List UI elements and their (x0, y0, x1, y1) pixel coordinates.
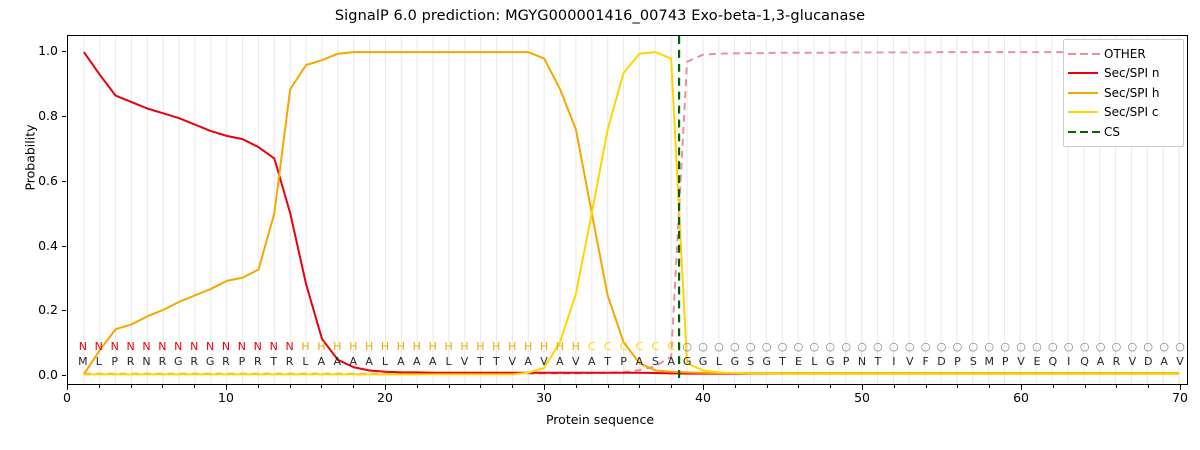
residue-state-19: H (361, 340, 377, 353)
residue-aa-56: P (949, 355, 965, 368)
x-tick-minor (639, 385, 640, 388)
residue-state-26: H (472, 340, 488, 353)
residue-aa-17: A (329, 355, 345, 368)
residue-state-62: ○ (1045, 340, 1061, 353)
curve-other (84, 52, 1179, 374)
x-tick-minor (99, 385, 100, 388)
residue-state-39: ○ (679, 340, 695, 353)
residue-state-36: C (631, 340, 647, 353)
residue-aa-46: E (790, 355, 806, 368)
residue-state-15: H (298, 340, 314, 353)
residue-aa-42: G (727, 355, 743, 368)
residue-aa-5: N (139, 355, 155, 368)
residue-aa-52: I (886, 355, 902, 368)
x-tick-minor (449, 385, 450, 388)
legend-swatch-icon (1068, 48, 1098, 60)
residue-aa-49: P (838, 355, 854, 368)
residue-state-10: N (218, 340, 234, 353)
page-title: SignalP 6.0 prediction: MGYG000001416_00… (0, 8, 1200, 24)
residue-state-11: N (234, 340, 250, 353)
x-tick-minor (1116, 385, 1117, 388)
residue-state-27: H (488, 340, 504, 353)
residue-state-63: ○ (1061, 340, 1077, 353)
residue-aa-24: L (441, 355, 457, 368)
residue-aa-68: D (1140, 355, 1156, 368)
curve-sec-spi-n (84, 52, 1179, 374)
residue-state-34: C (600, 340, 616, 353)
residue-state-53: ○ (902, 340, 918, 353)
residue-state-38: C (663, 340, 679, 353)
legend: OTHERSec/SPI nSec/SPI hSec/SPI cCS (1063, 39, 1184, 147)
residue-aa-58: M (981, 355, 997, 368)
residue-aa-13: T (266, 355, 282, 368)
residue-state-18: H (345, 340, 361, 353)
residue-aa-63: I (1061, 355, 1077, 368)
legend-item-sec-spi-c[interactable]: Sec/SPI c (1068, 103, 1179, 123)
residue-state-58: ○ (981, 340, 997, 353)
y-tick-mark (62, 116, 66, 117)
x-tick-minor (767, 385, 768, 388)
residue-aa-23: A (425, 355, 441, 368)
residue-aa-3: P (107, 355, 123, 368)
residue-state-2: N (91, 340, 107, 353)
residue-aa-27: T (488, 355, 504, 368)
residue-state-21: H (393, 340, 409, 353)
legend-swatch-icon (1068, 67, 1098, 79)
x-tick-minor (321, 385, 322, 388)
x-tick-minor (1148, 385, 1149, 388)
residue-state-65: ○ (1093, 340, 1109, 353)
residue-aa-59: P (997, 355, 1013, 368)
residue-aa-21: A (393, 355, 409, 368)
residue-state-41: ○ (711, 340, 727, 353)
residue-state-40: ○ (695, 340, 711, 353)
x-tick-label: 70 (1160, 390, 1200, 405)
residue-aa-20: L (377, 355, 393, 368)
residue-state-17: H (329, 340, 345, 353)
residue-aa-26: T (472, 355, 488, 368)
residue-aa-41: L (711, 355, 727, 368)
x-tick-mark (67, 385, 68, 390)
legend-swatch-icon (1068, 87, 1098, 99)
residue-state-13: N (266, 340, 282, 353)
residue-aa-47: L (806, 355, 822, 368)
residue-state-45: ○ (775, 340, 791, 353)
plot-area (67, 35, 1188, 385)
x-tick-minor (576, 385, 577, 388)
legend-label: CS (1104, 125, 1120, 139)
residue-aa-48: G (822, 355, 838, 368)
legend-label: Sec/SPI h (1104, 86, 1159, 100)
residue-aa-65: A (1093, 355, 1109, 368)
residue-aa-66: R (1108, 355, 1124, 368)
residue-aa-10: R (218, 355, 234, 368)
y-tick-label: 0.0 (14, 367, 58, 382)
residue-state-29: H (520, 340, 536, 353)
x-tick-mark (1021, 385, 1022, 390)
residue-state-52: ○ (886, 340, 902, 353)
x-tick-minor (671, 385, 672, 388)
x-tick-minor (830, 385, 831, 388)
x-tick-mark (862, 385, 863, 390)
x-tick-minor (798, 385, 799, 388)
residue-state-70: ○ (1172, 340, 1188, 353)
residue-state-28: H (504, 340, 520, 353)
residue-aa-6: R (154, 355, 170, 368)
y-tick-mark (62, 51, 66, 52)
y-tick-label: 0.2 (14, 302, 58, 317)
residue-state-37: C (647, 340, 663, 353)
residue-aa-32: V (568, 355, 584, 368)
residue-aa-67: V (1124, 355, 1140, 368)
residue-state-16: H (313, 340, 329, 353)
residue-state-60: ○ (1013, 340, 1029, 353)
residue-aa-4: R (123, 355, 139, 368)
y-tick-mark (62, 375, 66, 376)
y-tick-mark (62, 310, 66, 311)
x-tick-minor (989, 385, 990, 388)
residue-state-47: ○ (806, 340, 822, 353)
x-tick-minor (353, 385, 354, 388)
residue-state-49: ○ (838, 340, 854, 353)
residue-state-50: ○ (854, 340, 870, 353)
x-axis-label: Protein sequence (0, 412, 1200, 427)
residue-aa-11: P (234, 355, 250, 368)
residue-aa-38: A (663, 355, 679, 368)
residue-state-56: ○ (949, 340, 965, 353)
signalp-figure: SignalP 6.0 prediction: MGYG000001416_00… (0, 0, 1200, 450)
residue-state-55: ○ (934, 340, 950, 353)
y-tick-label: 0.8 (14, 108, 58, 123)
x-tick-label: 40 (683, 390, 723, 405)
legend-swatch-icon (1068, 106, 1098, 118)
residue-state-44: ○ (759, 340, 775, 353)
residue-aa-14: R (282, 355, 298, 368)
residue-aa-55: D (934, 355, 950, 368)
legend-item-cs[interactable]: CS (1068, 122, 1179, 142)
residue-state-23: H (425, 340, 441, 353)
residue-aa-62: Q (1045, 355, 1061, 368)
residue-state-33: C (584, 340, 600, 353)
x-tick-minor (258, 385, 259, 388)
residue-state-69: ○ (1156, 340, 1172, 353)
curves-layer (68, 36, 1187, 384)
y-tick-mark (62, 246, 66, 247)
x-tick-minor (131, 385, 132, 388)
residue-aa-31: A (552, 355, 568, 368)
residue-state-3: N (107, 340, 123, 353)
residue-aa-19: A (361, 355, 377, 368)
x-tick-minor (417, 385, 418, 388)
residue-aa-51: T (870, 355, 886, 368)
legend-item-sec-spi-h[interactable]: Sec/SPI h (1068, 83, 1179, 103)
residue-state-66: ○ (1108, 340, 1124, 353)
x-tick-minor (1053, 385, 1054, 388)
residue-state-48: ○ (822, 340, 838, 353)
residue-aa-7: G (170, 355, 186, 368)
x-tick-minor (608, 385, 609, 388)
residue-aa-30: V (536, 355, 552, 368)
x-tick-mark (385, 385, 386, 390)
residue-aa-9: G (202, 355, 218, 368)
legend-swatch-icon (1068, 126, 1098, 138)
residue-state-30: H (536, 340, 552, 353)
x-tick-minor (926, 385, 927, 388)
x-tick-minor (162, 385, 163, 388)
legend-label: OTHER (1104, 47, 1146, 61)
residue-aa-34: T (600, 355, 616, 368)
y-tick-label: 1.0 (14, 43, 58, 58)
residue-state-4: N (123, 340, 139, 353)
residue-aa-45: T (775, 355, 791, 368)
residue-state-57: ○ (965, 340, 981, 353)
x-tick-mark (226, 385, 227, 390)
residue-aa-28: V (504, 355, 520, 368)
residue-aa-35: P (616, 355, 632, 368)
y-tick-label: 0.4 (14, 238, 58, 253)
residue-aa-25: V (457, 355, 473, 368)
x-tick-mark (1180, 385, 1181, 390)
legend-item-other[interactable]: OTHER (1068, 44, 1179, 64)
residue-state-12: N (250, 340, 266, 353)
legend-item-sec-spi-n[interactable]: Sec/SPI n (1068, 64, 1179, 84)
residue-aa-40: G (695, 355, 711, 368)
residue-aa-2: L (91, 355, 107, 368)
residue-state-68: ○ (1140, 340, 1156, 353)
residue-state-32: H (568, 340, 584, 353)
x-tick-mark (544, 385, 545, 390)
residue-state-20: H (377, 340, 393, 353)
x-tick-minor (894, 385, 895, 388)
x-tick-label: 50 (842, 390, 882, 405)
residue-aa-44: G (759, 355, 775, 368)
residue-state-25: H (457, 340, 473, 353)
x-tick-label: 10 (206, 390, 246, 405)
residue-aa-50: N (854, 355, 870, 368)
x-tick-label: 0 (47, 390, 87, 405)
residue-aa-54: F (918, 355, 934, 368)
x-tick-minor (735, 385, 736, 388)
x-tick-minor (1085, 385, 1086, 388)
residue-state-7: N (170, 340, 186, 353)
residue-state-43: ○ (743, 340, 759, 353)
residue-state-1: N (75, 340, 91, 353)
y-tick-label: 0.6 (14, 173, 58, 188)
x-tick-minor (957, 385, 958, 388)
x-tick-minor (290, 385, 291, 388)
curve-sec-spi-c (84, 52, 1179, 374)
residue-aa-60: V (1013, 355, 1029, 368)
residue-aa-39: G (679, 355, 695, 368)
residue-state-6: N (154, 340, 170, 353)
residue-aa-61: E (1029, 355, 1045, 368)
residue-aa-43: S (743, 355, 759, 368)
residue-aa-15: L (298, 355, 314, 368)
residue-aa-18: A (345, 355, 361, 368)
residue-aa-53: V (902, 355, 918, 368)
residue-aa-33: A (584, 355, 600, 368)
residue-state-8: N (186, 340, 202, 353)
residue-aa-36: A (631, 355, 647, 368)
x-tick-minor (512, 385, 513, 388)
residue-state-67: ○ (1124, 340, 1140, 353)
residue-state-64: ○ (1077, 340, 1093, 353)
residue-state-24: H (441, 340, 457, 353)
residue-state-61: ○ (1029, 340, 1045, 353)
residue-aa-16: A (313, 355, 329, 368)
residue-state-9: N (202, 340, 218, 353)
legend-label: Sec/SPI n (1104, 66, 1159, 80)
residue-aa-1: M (75, 355, 91, 368)
legend-label: Sec/SPI c (1104, 105, 1158, 119)
x-tick-label: 30 (524, 390, 564, 405)
residue-aa-64: Q (1077, 355, 1093, 368)
residue-state-31: H (552, 340, 568, 353)
residue-aa-22: A (409, 355, 425, 368)
residue-state-22: H (409, 340, 425, 353)
residue-state-14: N (282, 340, 298, 353)
residue-aa-57: S (965, 355, 981, 368)
residue-state-54: ○ (918, 340, 934, 353)
curve-sec-spi-h (84, 52, 1179, 374)
x-tick-label: 60 (1001, 390, 1041, 405)
residue-state-51: ○ (870, 340, 886, 353)
residue-state-46: ○ (790, 340, 806, 353)
residue-state-35: C (616, 340, 632, 353)
x-tick-minor (480, 385, 481, 388)
residue-aa-8: R (186, 355, 202, 368)
residue-aa-29: A (520, 355, 536, 368)
x-tick-minor (194, 385, 195, 388)
residue-aa-70: V (1172, 355, 1188, 368)
residue-state-5: N (139, 340, 155, 353)
residue-aa-69: A (1156, 355, 1172, 368)
residue-aa-12: R (250, 355, 266, 368)
y-tick-mark (62, 181, 66, 182)
residue-state-59: ○ (997, 340, 1013, 353)
x-tick-label: 20 (365, 390, 405, 405)
residue-aa-37: S (647, 355, 663, 368)
residue-state-42: ○ (727, 340, 743, 353)
x-tick-mark (703, 385, 704, 390)
